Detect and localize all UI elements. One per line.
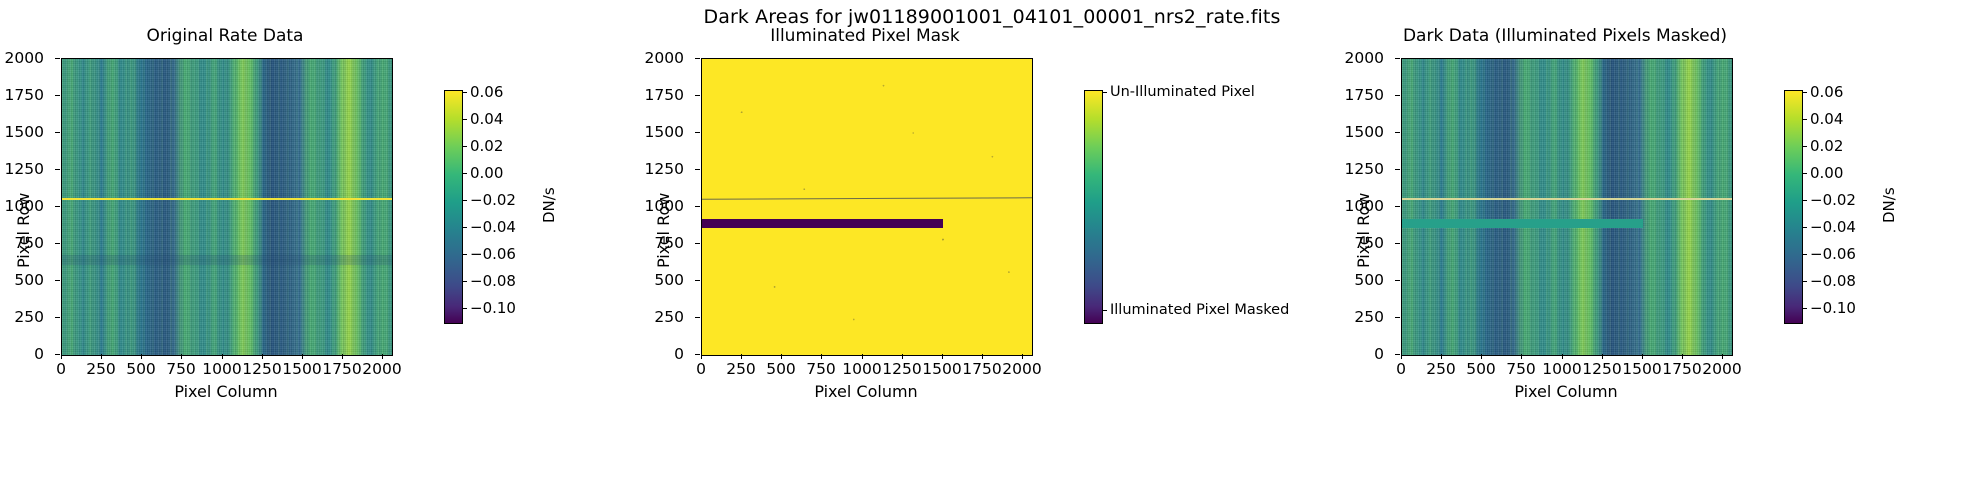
x-tick-label: 1000 bbox=[1542, 360, 1581, 378]
y-tick-mark bbox=[1395, 58, 1400, 59]
y-tick-mark bbox=[1395, 317, 1400, 318]
y-tick-mark bbox=[55, 280, 60, 281]
y-tick-label: 0 bbox=[0, 345, 44, 363]
y-tick-label: 250 bbox=[0, 308, 44, 326]
x-tick-mark bbox=[862, 354, 863, 359]
y-tick-mark bbox=[695, 169, 700, 170]
y-tick-mark bbox=[1395, 280, 1400, 281]
x-tick-mark bbox=[141, 354, 142, 359]
figure-suptitle: Dark Areas for jw01189001001_04101_00001… bbox=[0, 6, 1984, 28]
colorbar-tick-label: 0.00 bbox=[470, 164, 503, 182]
x-tick-label: 1000 bbox=[842, 360, 881, 378]
x-tick-label: 0 bbox=[56, 360, 66, 378]
panel-3-colorbar-label: DN/s bbox=[1880, 187, 1898, 223]
x-tick-label: 1500 bbox=[282, 360, 321, 378]
x-tick-mark bbox=[1441, 354, 1442, 359]
y-tick-mark bbox=[695, 317, 700, 318]
colorbar-tick-label: −0.08 bbox=[1810, 272, 1856, 290]
y-tick-label: 0 bbox=[1336, 345, 1384, 363]
x-tick-mark bbox=[982, 354, 983, 359]
y-tick-label: 750 bbox=[0, 234, 44, 252]
colorbar-tick-mark bbox=[1802, 227, 1807, 228]
y-tick-label: 1000 bbox=[1336, 197, 1384, 215]
y-tick-mark bbox=[1395, 169, 1400, 170]
colorbar-tick-label: −0.06 bbox=[1810, 245, 1856, 263]
x-tick-mark bbox=[1022, 354, 1023, 359]
y-tick-mark bbox=[55, 317, 60, 318]
colorbar-tick-mark bbox=[462, 173, 467, 174]
colorbar-tick-mark bbox=[1102, 92, 1107, 93]
panel-2-xlabel: Pixel Column bbox=[701, 382, 1031, 401]
y-tick-mark bbox=[695, 132, 700, 133]
mask-bad-pixel-specks bbox=[702, 59, 1032, 355]
y-tick-mark bbox=[695, 354, 700, 355]
x-tick-mark bbox=[262, 354, 263, 359]
y-tick-mark bbox=[55, 243, 60, 244]
x-tick-mark bbox=[302, 354, 303, 359]
y-tick-mark bbox=[55, 354, 60, 355]
rate-data-grain bbox=[1402, 59, 1732, 355]
x-tick-label: 750 bbox=[1506, 360, 1536, 378]
panel-illuminated-pixel-mask: Illuminated Pixel Mask Pixel Row 2000 17… bbox=[640, 48, 1280, 448]
x-tick-label: 1250 bbox=[882, 360, 921, 378]
y-tick-label: 500 bbox=[636, 271, 684, 289]
colorbar-tick-label: 0.06 bbox=[470, 83, 503, 101]
x-tick-label: 250 bbox=[86, 360, 116, 378]
y-tick-mark bbox=[1395, 95, 1400, 96]
panel-3-image bbox=[1401, 58, 1733, 356]
colorbar-tick-mark bbox=[1802, 173, 1807, 174]
panel-original-rate-data: Original Rate Data Pixel Row 2000 1750 1… bbox=[0, 48, 560, 448]
x-tick-mark bbox=[382, 354, 383, 359]
x-tick-label: 250 bbox=[1426, 360, 1456, 378]
y-tick-label: 1250 bbox=[1336, 160, 1384, 178]
x-tick-label: 2000 bbox=[1702, 360, 1741, 378]
y-tick-label: 2000 bbox=[1336, 49, 1384, 67]
y-tick-mark bbox=[695, 58, 700, 59]
panel-3-colorbar bbox=[1784, 90, 1803, 324]
x-tick-mark bbox=[1642, 354, 1643, 359]
x-tick-label: 500 bbox=[1466, 360, 1496, 378]
colorbar-tick-label: −0.02 bbox=[470, 191, 516, 209]
x-tick-mark bbox=[342, 354, 343, 359]
y-tick-mark bbox=[1395, 206, 1400, 207]
y-tick-mark bbox=[1395, 243, 1400, 244]
colorbar-tick-mark bbox=[462, 254, 467, 255]
masked-slit-bar bbox=[1402, 219, 1643, 228]
panel-2-title: Illuminated Pixel Mask bbox=[700, 26, 1030, 46]
colorbar-category-bottom: Illuminated Pixel Masked bbox=[1110, 302, 1289, 318]
colorbar-tick-label: −0.10 bbox=[470, 299, 516, 317]
y-tick-label: 1000 bbox=[0, 197, 44, 215]
colorbar-category-top: Un-Illuminated Pixel bbox=[1110, 84, 1255, 100]
y-tick-label: 750 bbox=[636, 234, 684, 252]
y-tick-label: 1000 bbox=[636, 197, 684, 215]
colorbar-tick-mark bbox=[1802, 200, 1807, 201]
y-tick-mark bbox=[55, 169, 60, 170]
x-tick-mark bbox=[942, 354, 943, 359]
colorbar-tick-label: −0.02 bbox=[1810, 191, 1856, 209]
x-tick-mark bbox=[181, 354, 182, 359]
colorbar-tick-mark bbox=[1802, 308, 1807, 309]
colorbar-tick-mark bbox=[1102, 310, 1107, 311]
panel-1-title: Original Rate Data bbox=[60, 26, 390, 46]
y-tick-label: 1500 bbox=[636, 123, 684, 141]
x-tick-mark bbox=[821, 354, 822, 359]
panel-3-xlabel: Pixel Column bbox=[1401, 382, 1731, 401]
y-tick-label: 1750 bbox=[636, 86, 684, 104]
x-tick-label: 1750 bbox=[322, 360, 361, 378]
y-tick-label: 2000 bbox=[0, 49, 44, 67]
dark-horizontal-band bbox=[62, 255, 392, 265]
x-tick-label: 0 bbox=[1396, 360, 1406, 378]
colorbar-tick-mark bbox=[462, 92, 467, 93]
y-tick-label: 1750 bbox=[0, 86, 44, 104]
x-tick-mark bbox=[101, 354, 102, 359]
masked-slit-bar bbox=[702, 219, 943, 228]
x-tick-label: 1250 bbox=[242, 360, 281, 378]
colorbar-tick-label: −0.06 bbox=[470, 245, 516, 263]
x-tick-label: 500 bbox=[126, 360, 156, 378]
x-tick-mark bbox=[1562, 354, 1563, 359]
x-tick-label: 1000 bbox=[202, 360, 241, 378]
x-tick-label: 1500 bbox=[922, 360, 961, 378]
colorbar-tick-label: 0.04 bbox=[1810, 110, 1843, 128]
y-tick-label: 500 bbox=[1336, 271, 1384, 289]
x-tick-mark bbox=[781, 354, 782, 359]
x-tick-mark bbox=[222, 354, 223, 359]
y-tick-mark bbox=[695, 243, 700, 244]
x-tick-label: 2000 bbox=[362, 360, 401, 378]
y-tick-label: 500 bbox=[0, 271, 44, 289]
x-tick-mark bbox=[741, 354, 742, 359]
panel-1-xlabel: Pixel Column bbox=[61, 382, 391, 401]
colorbar-tick-mark bbox=[462, 146, 467, 147]
y-tick-mark bbox=[55, 58, 60, 59]
x-tick-label: 750 bbox=[166, 360, 196, 378]
panel-2-image bbox=[701, 58, 1033, 356]
colorbar-tick-label: −0.04 bbox=[470, 218, 516, 236]
y-tick-label: 1500 bbox=[1336, 123, 1384, 141]
x-tick-label: 0 bbox=[696, 360, 706, 378]
y-tick-label: 250 bbox=[636, 308, 684, 326]
x-tick-mark bbox=[1722, 354, 1723, 359]
colorbar-tick-mark bbox=[462, 200, 467, 201]
y-tick-mark bbox=[1395, 354, 1400, 355]
colorbar-tick-mark bbox=[462, 119, 467, 120]
x-tick-mark bbox=[1521, 354, 1522, 359]
panel-1-image bbox=[61, 58, 393, 356]
panel-2-colorbar bbox=[1084, 90, 1103, 324]
y-tick-mark bbox=[695, 280, 700, 281]
x-tick-label: 1250 bbox=[1582, 360, 1621, 378]
y-tick-mark bbox=[55, 95, 60, 96]
x-tick-label: 750 bbox=[806, 360, 836, 378]
colorbar-tick-mark bbox=[462, 227, 467, 228]
x-tick-mark bbox=[1401, 354, 1402, 359]
colorbar-tick-mark bbox=[462, 281, 467, 282]
y-tick-label: 250 bbox=[1336, 308, 1384, 326]
bright-horizontal-streak bbox=[1402, 198, 1732, 200]
y-tick-mark bbox=[1395, 132, 1400, 133]
colorbar-tick-label: 0.06 bbox=[1810, 83, 1843, 101]
x-tick-label: 1750 bbox=[962, 360, 1001, 378]
colorbar-tick-label: 0.04 bbox=[470, 110, 503, 128]
x-tick-mark bbox=[902, 354, 903, 359]
colorbar-tick-label: −0.04 bbox=[1810, 218, 1856, 236]
rate-data-grain bbox=[62, 59, 392, 355]
panel-dark-data-masked: Dark Data (Illuminated Pixels Masked) Pi… bbox=[1340, 48, 1984, 448]
x-tick-mark bbox=[61, 354, 62, 359]
x-tick-label: 1500 bbox=[1622, 360, 1661, 378]
y-tick-label: 1250 bbox=[636, 160, 684, 178]
y-tick-mark bbox=[55, 132, 60, 133]
colorbar-tick-mark bbox=[1802, 254, 1807, 255]
colorbar-tick-label: 0.00 bbox=[1810, 164, 1843, 182]
colorbar-tick-mark bbox=[1802, 281, 1807, 282]
matplotlib-figure: Dark Areas for jw01189001001_04101_00001… bbox=[0, 0, 1984, 495]
y-tick-label: 1500 bbox=[0, 123, 44, 141]
colorbar-tick-label: 0.02 bbox=[1810, 137, 1843, 155]
x-tick-mark bbox=[1481, 354, 1482, 359]
colorbar-tick-label: 0.02 bbox=[470, 137, 503, 155]
x-tick-mark bbox=[1682, 354, 1683, 359]
x-tick-label: 250 bbox=[726, 360, 756, 378]
y-tick-label: 1750 bbox=[1336, 86, 1384, 104]
x-tick-label: 1750 bbox=[1662, 360, 1701, 378]
x-tick-mark bbox=[1602, 354, 1603, 359]
colorbar-tick-label: −0.08 bbox=[470, 272, 516, 290]
y-tick-label: 1250 bbox=[0, 160, 44, 178]
panel-1-colorbar-label: DN/s bbox=[540, 187, 558, 223]
y-tick-label: 0 bbox=[636, 345, 684, 363]
x-tick-mark bbox=[701, 354, 702, 359]
panel-1-colorbar bbox=[444, 90, 463, 324]
colorbar-tick-mark bbox=[1802, 92, 1807, 93]
y-tick-mark bbox=[695, 95, 700, 96]
y-tick-mark bbox=[695, 206, 700, 207]
y-tick-label: 2000 bbox=[636, 49, 684, 67]
colorbar-tick-label: −0.10 bbox=[1810, 299, 1856, 317]
x-tick-label: 500 bbox=[766, 360, 796, 378]
colorbar-tick-mark bbox=[1802, 146, 1807, 147]
colorbar-tick-mark bbox=[1802, 119, 1807, 120]
bright-horizontal-streak bbox=[62, 198, 392, 200]
y-tick-mark bbox=[55, 206, 60, 207]
y-tick-label: 750 bbox=[1336, 234, 1384, 252]
panel-3-title: Dark Data (Illuminated Pixels Masked) bbox=[1370, 26, 1760, 46]
colorbar-tick-mark bbox=[462, 308, 467, 309]
x-tick-label: 2000 bbox=[1002, 360, 1041, 378]
